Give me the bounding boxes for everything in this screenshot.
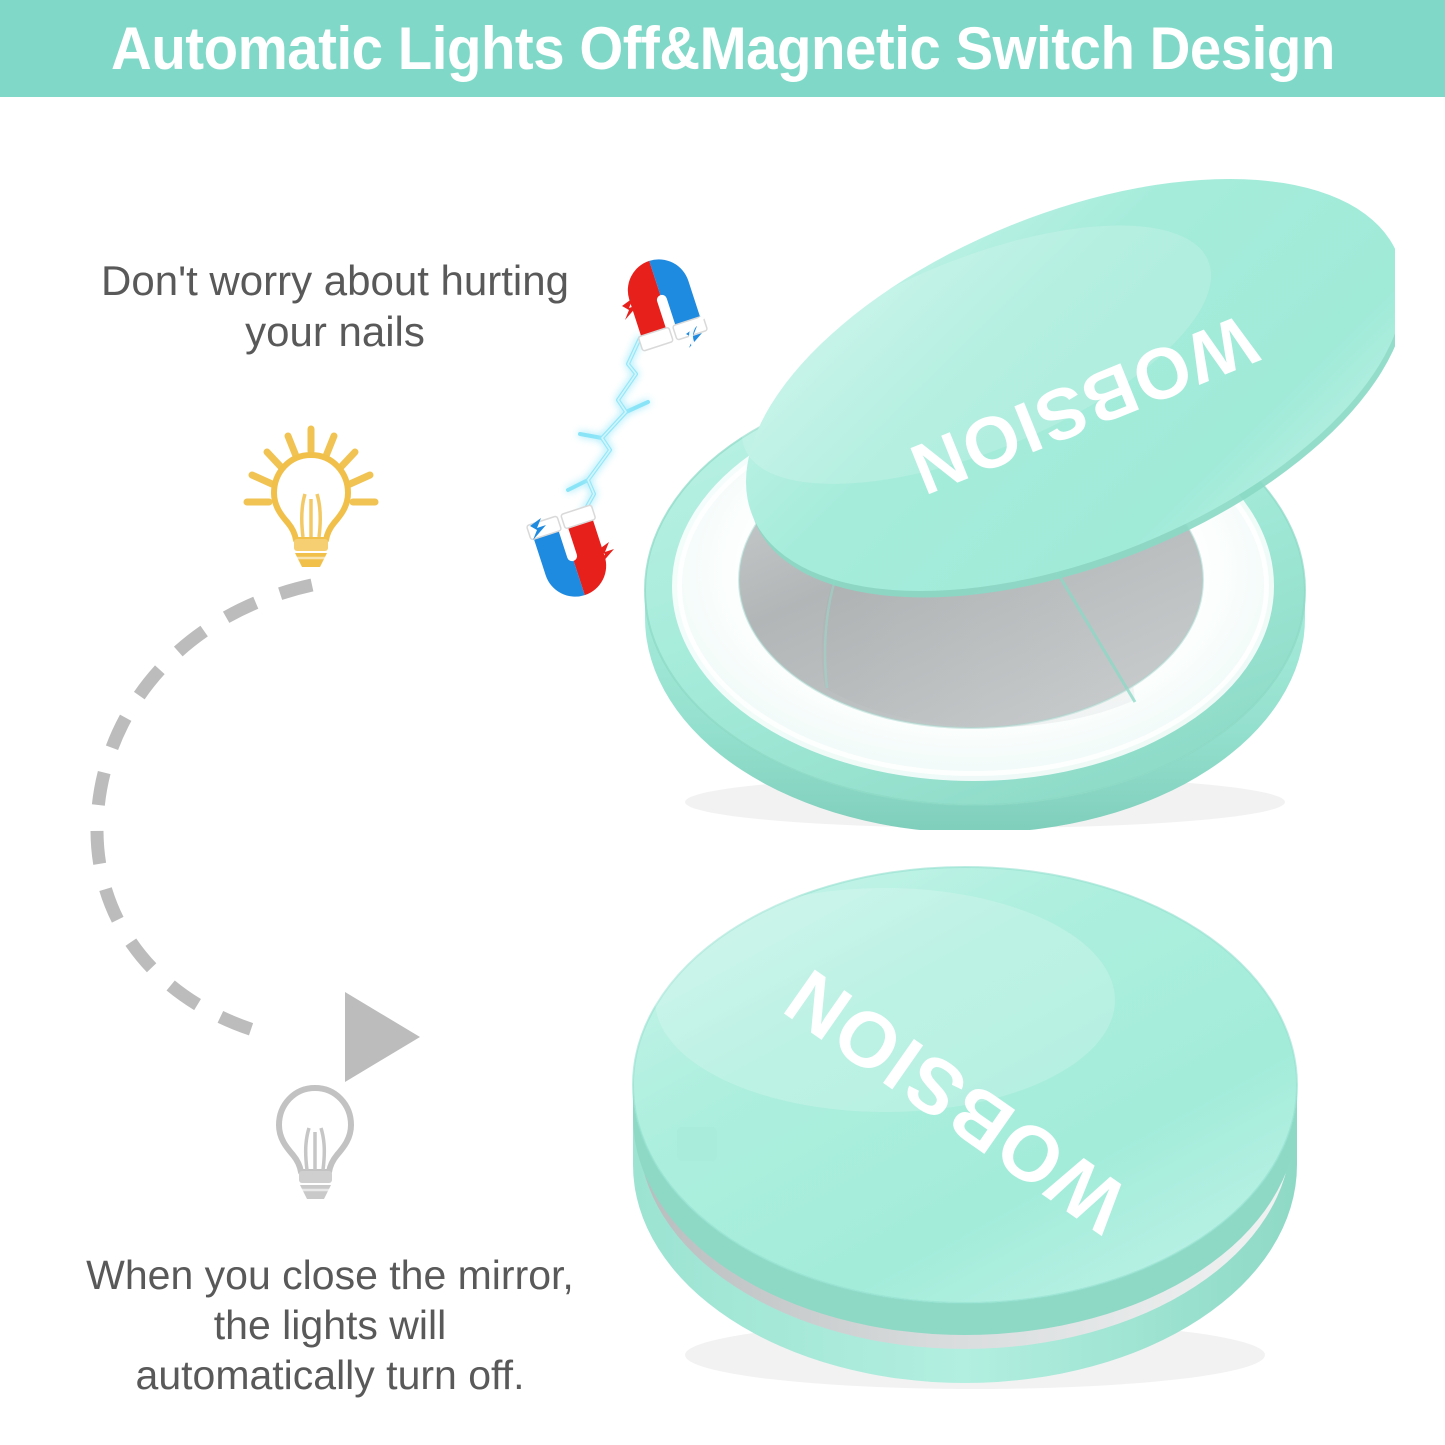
product-mirror-open: WOBSION [575,140,1395,830]
caption-auto-off: When you close the mirror, the lights wi… [20,1250,640,1400]
header-banner: Automatic Lights Off&Magnetic Switch Des… [0,0,1445,97]
banner-title: Automatic Lights Off&Magnetic Switch Des… [111,19,1335,79]
touch-sensor-light-icon [691,306,799,366]
lightbulb-unlit-icon [258,1080,373,1205]
dashed-curved-arrow-icon [55,545,435,1085]
product-mirror-closed: WOBSION [595,835,1325,1425]
product-feature-image: Automatic Lights Off&Magnetic Switch Des… [0,0,1445,1445]
